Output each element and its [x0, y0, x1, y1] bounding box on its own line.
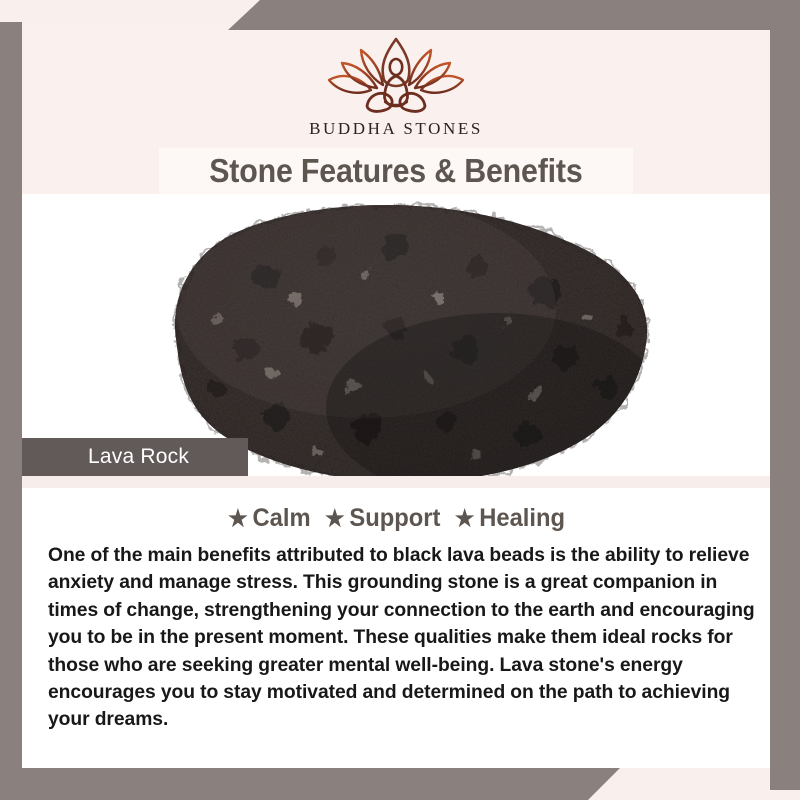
content-section: ★ Calm ★ Support ★ Healing One of the ma…: [22, 488, 770, 768]
brand-header: BUDDHA STONES: [22, 30, 770, 146]
star-icon: ★: [325, 507, 345, 530]
benefit-label: Calm: [252, 504, 310, 533]
lotus-meditation-figure-icon: [323, 36, 469, 118]
benefit-calm: ★ Calm: [228, 504, 310, 533]
frame-band-top: [228, 0, 800, 30]
brand-name: BUDDHA STONES: [309, 119, 483, 139]
photo-caption-bar: Lava Rock: [22, 438, 248, 476]
frame-band-bottom: [0, 768, 620, 800]
frame-band-right: [770, 0, 800, 790]
photo-separator: [22, 476, 770, 488]
benefit-support: ★ Support: [325, 504, 440, 533]
benefit-label: Support: [349, 504, 440, 533]
frame-band-left: [0, 22, 22, 800]
page-title: Stone Features & Benefits: [209, 152, 582, 190]
benefits-row: ★ Calm ★ Support ★ Healing: [34, 504, 760, 533]
description-text: One of the main benefits attributed to b…: [34, 542, 760, 734]
benefit-label: Healing: [479, 504, 565, 533]
benefit-healing: ★ Healing: [455, 504, 565, 533]
info-card: BUDDHA STONES Stone Features & Benefits: [22, 30, 770, 768]
stone-photo: Lava Rock: [22, 194, 770, 488]
star-icon: ★: [455, 507, 475, 530]
title-banner: Stone Features & Benefits: [159, 148, 633, 194]
photo-caption: Lava Rock: [22, 445, 189, 469]
star-icon: ★: [228, 507, 248, 530]
